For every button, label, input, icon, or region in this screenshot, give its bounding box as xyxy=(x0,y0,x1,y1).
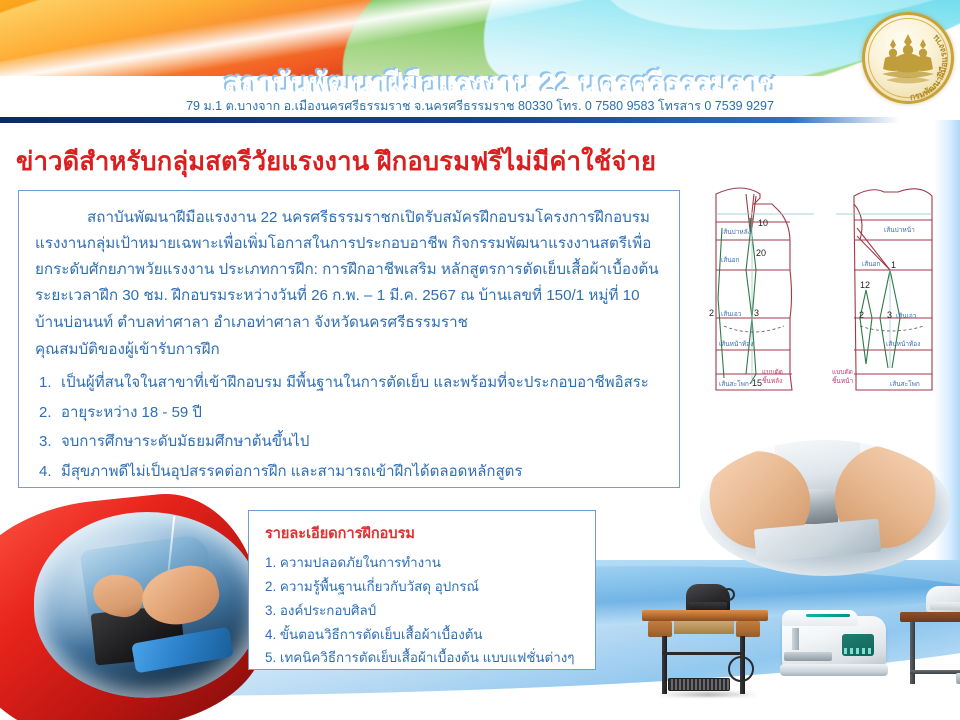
pattern-label: เส้นบ่าหน้า xyxy=(884,226,915,234)
paragraph-line: แรงงานกลุ่มเป้าหมายเฉพาะเพื่อเพิ่มโอกาสใ… xyxy=(35,235,651,252)
machine-leg-left xyxy=(910,622,915,684)
machine-treadle-pedal xyxy=(668,678,730,691)
department-of-skill-development-emblem: กรมพัฒนาฝีมือแรงงาน xyxy=(862,12,954,104)
pattern-caption-back-line2: ชิ้นหลัง xyxy=(762,376,782,385)
list-item: 3. องค์ประกอบศิลป์ xyxy=(265,599,581,623)
machine-needle-bar xyxy=(792,628,799,650)
paragraph-line: ระยะเวลาฝึก 30 ชม. ฝึกอบรมระหว่างวันที่ … xyxy=(35,287,640,304)
pattern-caption-back-line1: แบบตัด xyxy=(762,368,783,376)
paragraph-line: บ้านบ่อนนท์ ตำบลท่าศาลา อำเภอท่าศาลา จัง… xyxy=(35,314,468,331)
list-item: 4. มีสุขภาพดีไม่เป็นอุปสรรคต่อการฝึก และ… xyxy=(35,457,663,487)
pattern-label: เส้นเอว xyxy=(896,312,917,320)
pattern-label: เส้นเอว xyxy=(721,310,742,318)
announcement-box: สถาบันพัฒนาฝีมือแรงงาน 22 นครศรีธรรมราชก… xyxy=(18,190,680,488)
pattern-number: 10 xyxy=(758,218,768,228)
machine-leg-left xyxy=(662,636,667,694)
pattern-number: 2 xyxy=(859,310,864,320)
list-item: 1. ความปลอดภัยในการทำงาน xyxy=(265,551,581,575)
list-item-number: 2. xyxy=(39,398,52,428)
photo-hands-sewing-fabric xyxy=(700,440,950,576)
machine-stitch-buttons xyxy=(844,648,872,654)
pattern-label: เส้นบ่าหลัง xyxy=(721,228,751,236)
list-item: 3. จบการศึกษาระดับมัธยมศึกษาต้นขึ้นไป xyxy=(35,427,663,457)
machine-head xyxy=(926,586,960,612)
training-details-box: รายละเอียดการฝึกอบรม 1. ความปลอดภัยในการ… xyxy=(248,510,596,670)
pattern-caption-front-line2: ชิ้นหน้า xyxy=(832,376,854,385)
list-item: 2. อายุระหว่าง 18 - 59 ปี xyxy=(35,398,663,428)
machine-brace xyxy=(910,670,960,674)
machine-drawer-left xyxy=(648,621,672,637)
page-headline: ข่าวดีสำหรับกลุ่มสตรีวัยแรงงาน ฝึกอบรมฟร… xyxy=(16,142,706,182)
training-details-list: 1. ความปลอดภัยในการทำงาน 2. ความรู้พื้นฐ… xyxy=(265,551,581,670)
bodice-sewing-pattern-diagram: 10 20 2 3 15 1 12 2 3 เส้นบ่าหลัง เส้นอก… xyxy=(694,178,952,416)
list-item: 5. เทคนิควิธีการตัดเย็บเสื้อผ้าเบื้องต้น… xyxy=(265,646,581,670)
machine-needle-plate xyxy=(784,652,832,661)
emblem-deity-figures xyxy=(862,12,954,104)
list-item-number: 1. xyxy=(39,368,52,398)
pattern-label: เส้นสะโพก xyxy=(719,380,749,388)
poster-root: สถาบันพัฒนาฝีมือแรงงาน 22 นครศรีธรรมราช … xyxy=(0,0,960,720)
list-item-number: 3. xyxy=(39,427,52,457)
vintage-treadle-sewing-machine xyxy=(640,578,770,706)
machine-handwheel xyxy=(722,588,735,601)
pattern-number: 3 xyxy=(754,308,759,318)
industrial-sewing-machine-table xyxy=(900,572,960,706)
machine-base xyxy=(780,664,888,676)
photo-sewing-machine-closeup-blue xyxy=(34,512,260,698)
machine-drawer-right xyxy=(736,621,760,637)
list-item-label: จบการศึกษาระดับมัธยมศึกษาต้นขึ้นไป xyxy=(61,433,309,450)
list-item: 4. ขั้นตอนวิธีการตัดเย็บเสื้อผ้าเบื้องต้… xyxy=(265,623,581,647)
modern-electronic-sewing-machine xyxy=(782,608,886,684)
pattern-number: 15 xyxy=(752,378,762,388)
machine-foot-pedal xyxy=(956,671,960,684)
header-navy-divider xyxy=(0,117,900,123)
machine-drive-wheel xyxy=(728,656,754,682)
machine-apron xyxy=(674,621,734,634)
pattern-label: เส้นอก xyxy=(721,256,740,264)
machine-brace xyxy=(662,652,745,655)
machine-teal-stripe xyxy=(806,614,850,617)
pattern-number: 12 xyxy=(860,280,870,290)
pattern-label: เส้นสะโพก xyxy=(890,380,920,388)
announcement-paragraph: สถาบันพัฒนาฝีมือแรงงาน 22 นครศรีธรรมราชก… xyxy=(35,205,663,336)
pattern-caption-front-line1: แบบตัด xyxy=(832,368,853,376)
paragraph-line: ยกระดับศักยภาพวัยแรงงาน ประเภทการฝึก: กา… xyxy=(35,261,659,278)
list-item-label: มีสุขภาพดีไม่เป็นอุปสรรคต่อการฝึก และสาม… xyxy=(61,463,522,480)
list-item-number: 4. xyxy=(39,457,52,487)
list-item: 2. ความรู้พื้นฐานเกี่ยวกับวัสดุ อุปกรณ์ xyxy=(265,575,581,599)
machine-tabletop xyxy=(900,612,960,622)
pattern-number: 20 xyxy=(756,248,766,258)
list-item-label: อายุระหว่าง 18 - 59 ปี xyxy=(61,404,202,421)
pattern-number: 3 xyxy=(887,310,892,320)
machine-floor-shadow xyxy=(658,692,758,697)
pattern-number: 2 xyxy=(709,308,714,318)
paragraph-line: สถาบันพัฒนาฝีมือแรงงาน 22 นครศรีธรรมราชก… xyxy=(87,209,650,226)
list-item-label: เป็นผู้ที่สนใจในสาขาที่เข้าฝึกอบรม มีพื้… xyxy=(61,374,649,391)
list-item: 1. เป็นผู้ที่สนใจในสาขาที่เข้าฝึกอบรม มี… xyxy=(35,368,663,398)
qualifications-heading: คุณสมบัติของผู้เข้ารับการฝึก xyxy=(35,337,663,363)
machine-upper-arm xyxy=(782,610,858,626)
qualifications-list: 1. เป็นผู้ที่สนใจในสาขาที่เข้าฝึกอบรม มี… xyxy=(35,368,663,487)
organization-address: 79 ม.1 ต.บางจาก อ.เมืองนครศรีธรรมราช จ.น… xyxy=(100,96,860,116)
pattern-label: เส้นหน้าท้อง xyxy=(886,340,920,348)
pattern-label: เส้นอก xyxy=(862,260,881,268)
pattern-label: เส้นหน้าท้อง xyxy=(719,340,753,348)
machine-tabletop xyxy=(642,610,768,621)
pattern-number: 1 xyxy=(891,260,896,270)
training-details-title: รายละเอียดการฝึกอบรม xyxy=(265,522,581,545)
